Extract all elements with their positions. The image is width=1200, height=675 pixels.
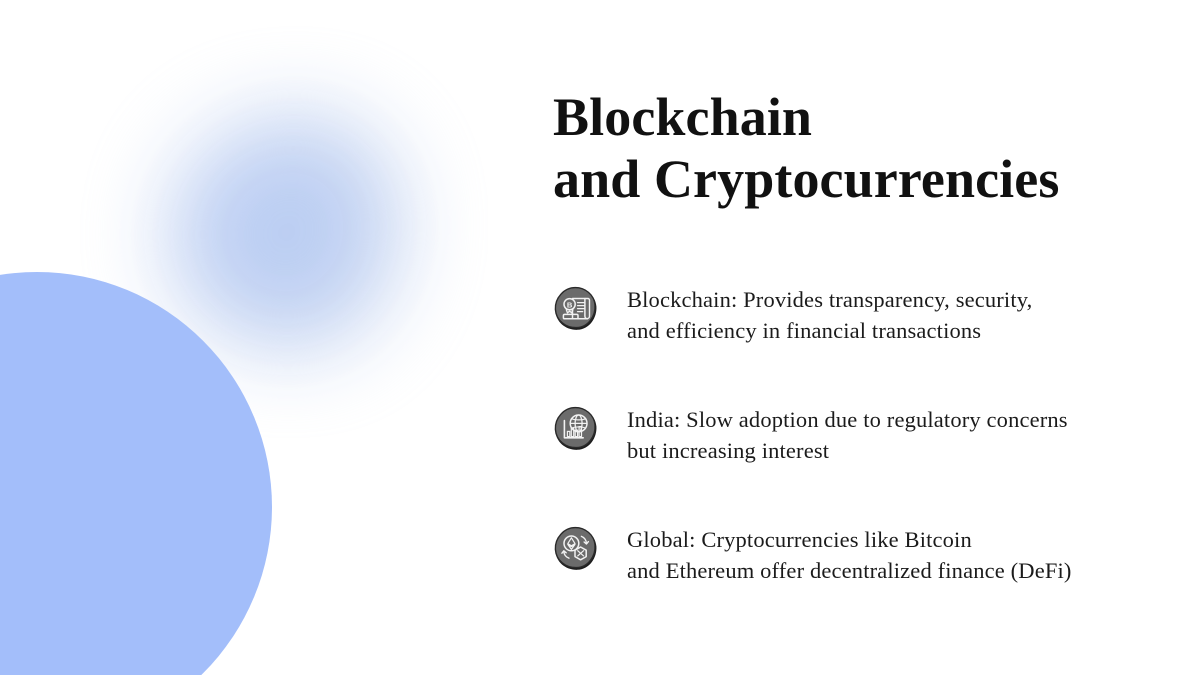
svg-text:B: B bbox=[567, 300, 573, 309]
list-item-label: Blockchain: Provides transparency, secur… bbox=[627, 282, 1153, 346]
list-item-label: Global: Cryptocurrencies like Bitcoin an… bbox=[627, 522, 1153, 586]
ethereum-exchange-coin-icon bbox=[553, 526, 599, 572]
list-item-label: India: Slow adoption due to regulatory c… bbox=[627, 402, 1153, 466]
slide-canvas: Blockchain and Cryptocurrencies bbox=[0, 0, 1200, 675]
globe-chart-coin-icon bbox=[553, 406, 599, 452]
list-item: India: Slow adoption due to regulatory c… bbox=[553, 402, 1153, 466]
slide-content: Blockchain and Cryptocurrencies bbox=[553, 0, 1153, 675]
bitcoin-contract-coin-icon: B bbox=[553, 286, 599, 332]
list-item: Global: Cryptocurrencies like Bitcoin an… bbox=[553, 522, 1153, 586]
list-item: B Blockchain: Provides transparency, sec… bbox=[553, 282, 1153, 346]
soft-blue-blob-shape bbox=[170, 115, 400, 350]
solid-blue-circle-shape bbox=[0, 272, 272, 675]
page-title: Blockchain and Cryptocurrencies bbox=[553, 86, 1153, 210]
bullet-list: B Blockchain: Provides transparency, sec… bbox=[553, 282, 1153, 586]
